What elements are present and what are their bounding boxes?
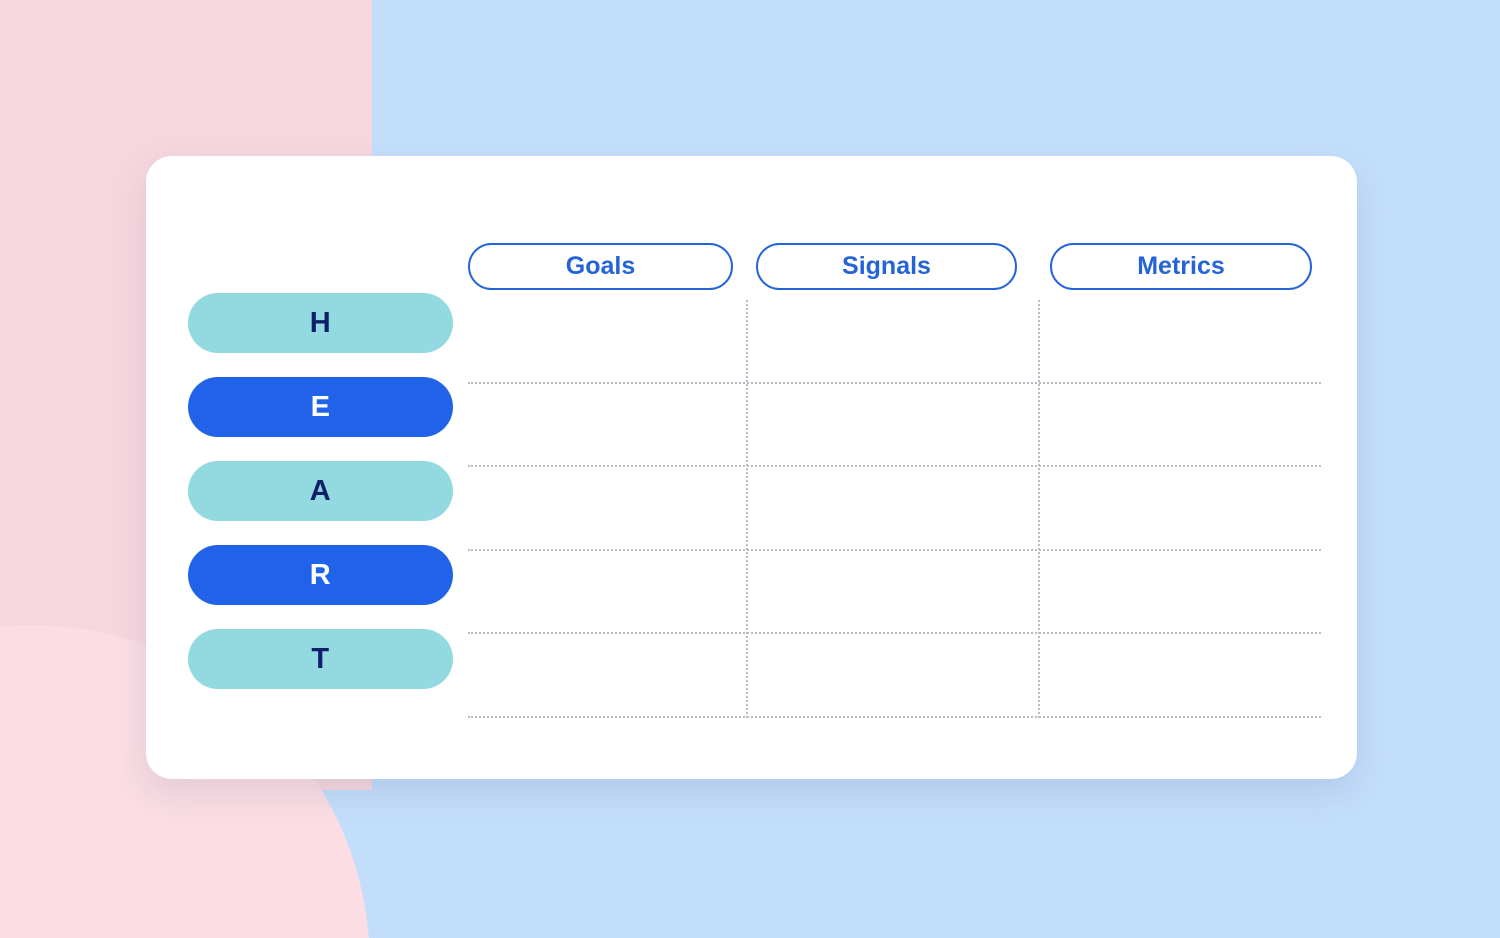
column-header-metrics[interactable]: Metrics (1050, 243, 1312, 290)
page-canvas: H E A R T Goals Signals (0, 0, 1500, 938)
table-row[interactable] (468, 384, 1321, 468)
worksheet-grid-area: Goals Signals Metrics (468, 243, 1324, 863)
table-row[interactable] (468, 467, 1321, 551)
letter-pill-e-label: E (311, 391, 331, 424)
letter-pill-a[interactable]: A (188, 461, 453, 521)
column-header-goals-label: Goals (566, 252, 635, 281)
heart-letter-rail: H E A R T (188, 293, 453, 689)
letter-pill-t-label: T (311, 643, 329, 676)
letter-pill-h-label: H (310, 307, 331, 340)
table-row[interactable] (468, 551, 1321, 635)
column-header-metrics-label: Metrics (1137, 252, 1225, 281)
letter-pill-t[interactable]: T (188, 629, 453, 689)
table-row[interactable] (468, 300, 1321, 384)
letter-pill-a-label: A (310, 475, 331, 508)
worksheet-dotted-table (468, 300, 1321, 718)
table-row[interactable] (468, 634, 1321, 718)
letter-pill-e[interactable]: E (188, 377, 453, 437)
worksheet-card: H E A R T Goals Signals (146, 156, 1357, 779)
column-header-goals[interactable]: Goals (468, 243, 733, 290)
column-header-signals[interactable]: Signals (756, 243, 1017, 290)
letter-pill-r[interactable]: R (188, 545, 453, 605)
column-header-row: Goals Signals Metrics (468, 243, 1324, 290)
letter-pill-r-label: R (310, 559, 331, 592)
letter-pill-h[interactable]: H (188, 293, 453, 353)
column-header-signals-label: Signals (842, 252, 931, 281)
